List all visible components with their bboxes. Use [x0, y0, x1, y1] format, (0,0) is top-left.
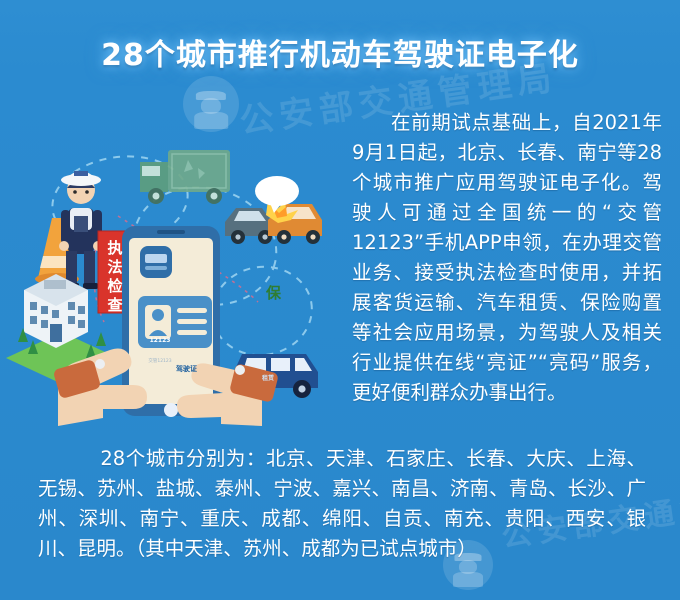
enforcement-banner-label: 执法检查 — [101, 239, 129, 315]
infographic-poster: 公安部交通管理局 公安部交通管理局 28个城市推行机动车驾驶证电子化 — [0, 0, 680, 600]
license-card-label: 驾驶证 — [176, 364, 197, 374]
city-list-paragraph: 28个城市分别为：北京、天津、石家庄、长春、大庆、上海、无锡、苏州、盐城、泰州、… — [38, 444, 646, 564]
app-icon-label: 12123 — [147, 337, 173, 344]
app-icon-sublabel: 交管12123 — [142, 358, 178, 364]
page-title: 28个城市推行机动车驾驶证电子化 — [101, 30, 579, 74]
cargo-truck-icon — [140, 150, 230, 204]
illustration-scene: 执法检查 保 驾驶证 12123 交管12123 租赁 — [0, 96, 345, 426]
insurance-bubble-label: 保 — [266, 282, 281, 303]
poster-title-container: 28个城市推行机动车驾驶证电子化 — [0, 30, 680, 74]
rental-van-label: 租赁 — [262, 373, 274, 382]
main-paragraph: 在前期试点基础上，自2021年9月1日起，北京、长春、南宁等28个城市推广应用驾… — [352, 108, 662, 408]
